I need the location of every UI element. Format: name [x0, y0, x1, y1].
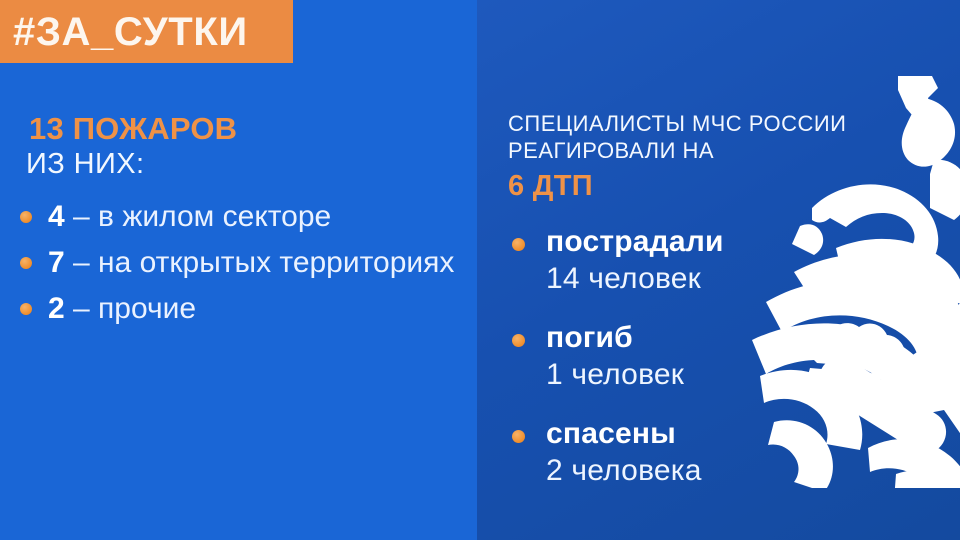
accidents-header-line2: РЕАГИРОВАЛИ НА — [508, 137, 847, 164]
bullet-dot-icon — [20, 303, 32, 315]
list-item: пострадали 14 человек — [508, 224, 928, 298]
list-item: погиб 1 человек — [508, 320, 928, 394]
outcome-label: пострадали — [546, 224, 928, 260]
bullet-dot-icon — [512, 430, 525, 443]
outcome-value: 1 человек — [546, 356, 928, 394]
fires-count-value: 7 — [48, 246, 65, 279]
bullet-dot-icon — [512, 334, 525, 347]
outcome-label: погиб — [546, 320, 928, 356]
fires-category-label: в жилом секторе — [98, 200, 331, 233]
accidents-outcome-list: пострадали 14 человек погиб 1 человек сп… — [508, 224, 928, 512]
accidents-header-line1: СПЕЦИАЛИСТЫ МЧС РОССИИ — [508, 110, 847, 137]
fires-dash: – — [65, 292, 98, 325]
bullet-dot-icon — [20, 211, 32, 223]
list-item: 2 – прочие — [18, 288, 468, 329]
list-item: 4 – в жилом секторе — [18, 196, 468, 237]
fires-subheading: ИЗ НИХ: — [26, 150, 144, 179]
accidents-header: СПЕЦИАЛИСТЫ МЧС РОССИИ РЕАГИРОВАЛИ НА — [508, 110, 847, 164]
accidents-count-highlight: 6 ДТП — [508, 172, 593, 201]
bullet-dot-icon — [512, 238, 525, 251]
outcome-label: спасены — [546, 416, 928, 452]
fires-category-label: прочие — [98, 292, 196, 325]
fires-dash: – — [65, 200, 98, 233]
list-item: спасены 2 человека — [508, 416, 928, 490]
accidents-section: СПЕЦИАЛИСТЫ МЧС РОССИИ РЕАГИРОВАЛИ НА 6 … — [477, 0, 960, 540]
fires-dash: – — [65, 246, 98, 279]
fires-section: 13 ПОЖАРОВ ИЗ НИХ: 4 – в жилом секторе 7… — [0, 0, 477, 540]
fires-count-value: 2 — [48, 292, 65, 325]
outcome-value: 2 человека — [546, 452, 928, 490]
infographic-slide: #ЗА_СУТКИ 13 ПОЖАРОВ ИЗ НИХ: 4 – в жилом… — [0, 0, 960, 540]
outcome-value: 14 человек — [546, 260, 928, 298]
fires-breakdown-list: 4 – в жилом секторе 7 – на открытых терр… — [18, 196, 468, 334]
fires-headline: 13 ПОЖАРОВ — [29, 113, 237, 144]
fires-count-value: 4 — [48, 200, 65, 233]
list-item: 7 – на открытых территориях — [18, 242, 468, 283]
bullet-dot-icon — [20, 257, 32, 269]
fires-category-label: на открытых территориях — [98, 246, 454, 279]
